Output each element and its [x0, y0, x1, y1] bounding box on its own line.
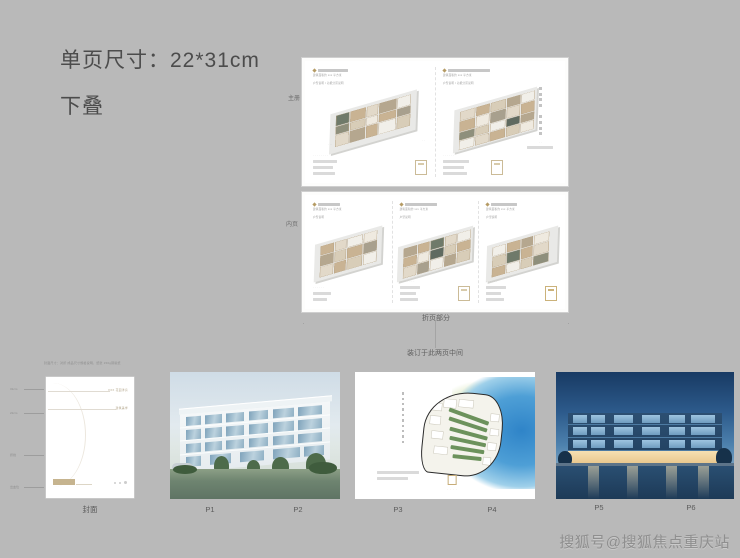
plan-3-header: 建筑面积约 xxx 平方米 户型说明: [313, 203, 384, 220]
cover-subtitle: 建筑美学: [116, 406, 128, 410]
plan-5-note: · · · · · ·: [486, 280, 557, 283]
plan-4-note: · · · · · · · ·: [400, 280, 471, 283]
plan-1-desc: 户型说明 / 功能分区说明: [313, 82, 427, 85]
plan-4-spec-1: [400, 286, 420, 289]
spread-1-footer-note: [527, 146, 553, 149]
plan-5-spec-1: [486, 286, 506, 289]
page-title-size-line: 单页尺寸：22*31cm: [60, 44, 260, 74]
light-reflection: [666, 466, 677, 499]
diamond-bullet-icon: [312, 202, 316, 206]
cover-project-name: XXX 花园洋房: [108, 388, 128, 392]
binding-leader-line: [435, 321, 436, 348]
plan-1-spec-2: [313, 166, 333, 169]
plan-2-header: 建筑面积约 xxx 平方米 户型说明 / 功能分区说明: [443, 69, 557, 86]
project-logo: · · · ·: [447, 475, 458, 491]
plan-2-spec-2: [443, 166, 464, 169]
plan-3-footer: · · · · · ·: [313, 286, 384, 301]
plan-2-isometric-render: [458, 92, 532, 148]
plan-5-spec-2: [486, 292, 501, 295]
plan-4-spec-2: [400, 292, 416, 295]
plan-3-isometric-render: [319, 230, 377, 278]
vertical-caption-column: [400, 392, 406, 446]
plan-2-title-glyphs: [448, 69, 490, 72]
cover-rule-1: [48, 391, 110, 392]
plan-1-isometric-render: [334, 96, 412, 148]
plan-3-desc: 户型说明: [313, 216, 384, 219]
plan-1-footer: · · · · · · · ·: [313, 154, 427, 175]
plan-5-desc: 户型说明: [486, 216, 557, 219]
layout-presentation-canvas: 单页尺寸：22*31cm 下叠 主册 建筑面积约 xxx 平方米 户型说明 / …: [0, 0, 740, 558]
thumbnail-label-p3: P3: [355, 505, 441, 514]
page-title-fold-line: 下叠: [60, 90, 260, 120]
plan-4-desc: 户型说明: [400, 216, 471, 219]
light-reflection: [698, 466, 709, 499]
site-plan-render[interactable]: · · · ·: [355, 372, 535, 499]
plan-4-spec-3: [400, 298, 418, 301]
plan-1-subtitle: 建筑面积约 xxx 平方米: [313, 74, 427, 77]
light-reflection: [588, 466, 599, 499]
brochure-spread-2[interactable]: 建筑面积约 xxx 平方米 户型说明 · · · · · ·: [301, 191, 569, 313]
plan-1-title-glyphs: [318, 69, 348, 72]
cover-footer-dots: [114, 481, 127, 484]
thumbnail-label-p5: P5: [556, 503, 642, 512]
plan-2-dim-right: · ·: [539, 141, 541, 144]
diamond-bullet-icon: [442, 68, 446, 72]
watermark: 搜狐号@搜狐焦点重庆站: [559, 531, 730, 552]
fold-section-caption-text: 折页部分: [418, 315, 454, 322]
plan-panel-4[interactable]: 建筑面积约 xxx 平方米 户型说明 · · · · · · · ·: [392, 195, 479, 309]
spread-1-inner: 建筑面积约 xxx 平方米 户型说明 / 功能分区说明 · · · · ·: [305, 61, 565, 183]
plan-1-spec-1: [313, 160, 337, 163]
cover-label: 封面: [46, 504, 134, 515]
plan-5-subtitle: 建筑面积约 xxx 平方米: [486, 208, 557, 211]
binding-note-caption: 装订于此两页中间: [340, 348, 530, 358]
plan-3-spec-1: [313, 292, 331, 295]
cover-tick-label-4: 出血位: [10, 485, 19, 489]
plan-4-title-row: [400, 203, 471, 206]
page-title: 单页尺寸：22*31cm 下叠: [60, 44, 260, 120]
diamond-bullet-icon: [486, 202, 490, 206]
cover-tick-label-3: 折线: [10, 453, 16, 457]
spread-1-vertical-text-column: [535, 87, 545, 138]
plan-4-header: 建筑面积约 xxx 平方米 户型说明: [400, 203, 471, 220]
cover-tick-label-2: 22cm: [10, 411, 17, 415]
plan-4-legend-badge: [458, 286, 470, 301]
plan-5-header: 建筑面积约 xxx 平方米 户型说明: [486, 203, 557, 220]
plan-1-note: · · · · · · · ·: [313, 154, 427, 157]
plan-1-legend-badge: [415, 160, 427, 175]
thumbnail-label-p4: P4: [449, 505, 535, 514]
plan-5-isometric-render: [491, 231, 553, 277]
thumbnail-label-p6: P6: [648, 503, 734, 512]
fold-section-caption: 折页部分: [303, 313, 569, 323]
plan-5-spec-3: [486, 298, 504, 301]
cover-spec-note: 封面尺寸：对折 成品尺寸规格说明，纸张 150g铜版纸: [44, 361, 144, 365]
plan-1-dim-left: · · ·: [328, 143, 332, 146]
plan-3-note: · · · · · ·: [313, 286, 384, 289]
plan-3-title-row: [313, 203, 384, 206]
plan-2-legend-badge: [491, 160, 503, 175]
plan-4-title-glyphs: [405, 203, 437, 206]
plan-5-legend-badge: [545, 286, 557, 301]
diamond-bullet-icon: [399, 202, 403, 206]
spread-2-side-caption: 内页: [286, 222, 298, 229]
plan-1-header: 建筑面积约 xxx 平方米 户型说明 / 功能分区说明: [313, 69, 427, 86]
plan-1-title-row: [313, 69, 427, 72]
plan-2-title-row: [443, 69, 557, 72]
cover-page-thumbnail[interactable]: XXX 花园洋房 建筑美学: [46, 377, 134, 498]
plan-2-note: · · · · · ·: [443, 154, 557, 157]
plan-panel-2[interactable]: 建筑面积约 xxx 平方米 户型说明 / 功能分区说明 · · ·: [435, 61, 565, 183]
brochure-spread-1[interactable]: 建筑面积约 xxx 平方米 户型说明 / 功能分区说明 · · · · ·: [301, 57, 569, 187]
plan-2-dim-left: · · ·: [469, 146, 473, 149]
plan-4-subtitle: 建筑面积约 xxx 平方米: [400, 208, 471, 211]
plan-5-title-row: [486, 203, 557, 206]
plan-panel-5[interactable]: 建筑面积约 xxx 平方米 户型说明 · · · · · ·: [478, 195, 565, 309]
plan-5-title-glyphs: [491, 203, 517, 206]
plan-1-dim-right: · ·: [422, 139, 424, 142]
logo-mark-icon: [448, 475, 457, 485]
plan-4-isometric-render: [402, 232, 468, 276]
plan-1-spec-3: [313, 172, 335, 175]
cover-tick-label-1: 31cm: [10, 387, 17, 391]
cover-rule-2: [48, 409, 116, 410]
thumbnail-label-p1: P1: [170, 505, 250, 514]
building-dusk-render[interactable]: [556, 372, 734, 499]
cover-tag-rule: [76, 484, 92, 485]
thumbnail-label-p2: P2: [258, 505, 338, 514]
diamond-bullet-icon: [312, 68, 316, 72]
plan-2-spec-1: [443, 160, 469, 163]
spread-1-side-caption: 主册: [288, 96, 300, 103]
plan-panel-3[interactable]: 建筑面积约 xxx 平方米 户型说明 · · · · · ·: [305, 195, 392, 309]
cover-arc-decoration: [20, 383, 86, 487]
plan-3-spec-2: [313, 298, 327, 301]
plan-2-spec-3: [443, 172, 467, 175]
light-reflection: [627, 466, 638, 499]
site-plan-footnote: [377, 471, 438, 480]
cover-brand-tag: [53, 479, 75, 485]
plan-2-desc: 户型说明 / 功能分区说明: [443, 82, 557, 85]
plan-3-title-glyphs: [318, 203, 340, 206]
plan-panel-1[interactable]: 建筑面积约 xxx 平方米 户型说明 / 功能分区说明 · · · · ·: [305, 61, 435, 183]
plan-2-subtitle: 建筑面积约 xxx 平方米: [443, 74, 557, 77]
logo-text: · · · ·: [447, 487, 458, 491]
shrub: [309, 462, 336, 473]
building-day-render[interactable]: [170, 372, 340, 499]
shrub: [173, 465, 197, 474]
plan-3-subtitle: 建筑面积约 xxx 平方米: [313, 208, 384, 211]
spread-2-inner: 建筑面积约 xxx 平方米 户型说明 · · · · · ·: [305, 195, 565, 309]
